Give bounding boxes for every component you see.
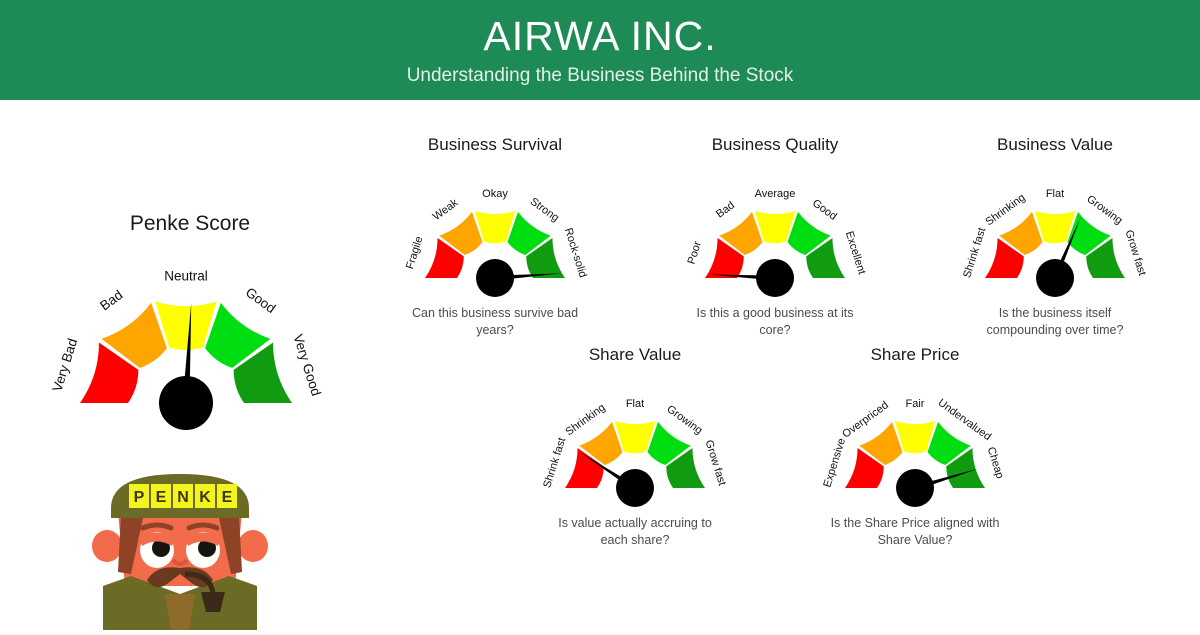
gauge-segment-label: Growing — [664, 403, 704, 437]
gauge-segment-label: Very Bad — [50, 337, 81, 394]
caption-line-1: Is this a good business at its — [658, 305, 892, 322]
gauge-hub — [1036, 259, 1074, 297]
gauge-dial-share-value: Shrink fastShrinkingFlatGrowingGrow fast — [518, 372, 752, 507]
gauge-caption-business-quality: Is this a good business at its core? — [658, 305, 892, 339]
gauge-hub — [476, 259, 514, 297]
gauge-title-penke-score: Penke Score — [30, 212, 350, 236]
caption-line-1: Is value actually accruing to — [518, 515, 752, 532]
gauge-share-value: Share Value Shrink fastShrinkingFlatGrow… — [518, 345, 752, 550]
mascot-illustration: P E N K E — [85, 462, 275, 630]
gauge-segment-label: Expensive — [821, 437, 848, 489]
gauge-dial-share-price: ExpensiveOverpricedFairUndervaluedCheap — [798, 372, 1032, 507]
gauge-penke-score: Penke Score Very BadBadNeutralGoodVery G… — [30, 212, 350, 427]
mascot-left-ear — [92, 530, 122, 562]
svg-text:K: K — [199, 489, 211, 506]
gauge-caption-business-survival: Can this business survive bad years? — [378, 305, 612, 339]
gauge-segment-label: Poor — [686, 240, 704, 266]
gauge-segment-label: Shrinking — [983, 192, 1027, 229]
gauge-segment-label: Bad — [714, 199, 737, 220]
gauge-caption-share-price: Is the Share Price aligned with Share Va… — [798, 515, 1032, 549]
gauge-share-price: Share Price ExpensiveOverpricedFairUnder… — [798, 345, 1032, 550]
gauge-business-survival: Business Survival FragileWeakOkayStrongR… — [378, 135, 612, 335]
gauge-segment-label: Rock-solid — [562, 227, 589, 280]
caption-line-2: years? — [378, 322, 612, 339]
caption-line-1: Is the business itself — [938, 305, 1172, 322]
gauge-segment-label: Shrink fast — [961, 226, 988, 279]
gauge-segment-label: Good — [810, 197, 839, 223]
page-subtitle: Understanding the Business Behind the St… — [0, 59, 1200, 88]
gauge-dial-business-value: Shrink fastShrinkingFlatGrowingGrow fast — [938, 162, 1172, 297]
gauge-segment-label: Growing — [1084, 193, 1124, 227]
caption-line-2: Share Value? — [798, 532, 1032, 549]
gauge-segment-label: Flat — [1046, 188, 1064, 200]
mascot-right-ear — [238, 530, 268, 562]
gauge-segment-label: Grow fast — [1122, 229, 1148, 278]
gauge-hub — [756, 259, 794, 297]
gauge-segment-label: Excellent — [843, 230, 868, 276]
gauge-segment-label: Good — [243, 285, 279, 317]
svg-text:N: N — [177, 489, 189, 506]
caption-line-1: Is the Share Price aligned with — [798, 515, 1032, 532]
caption-line-1: Can this business survive bad — [378, 305, 612, 322]
caption-line-2: each share? — [518, 532, 752, 549]
mascot-left-eyelid — [140, 537, 174, 542]
gauge-segment-label: Fair — [906, 398, 925, 410]
gauge-segment-label: Shrinking — [563, 402, 607, 439]
gauge-segment-label: Very Good — [290, 332, 323, 397]
gauge-segment-label: Okay — [482, 188, 508, 200]
gauge-segment-label: Cheap — [985, 446, 1006, 481]
gauge-segment-label: Grow fast — [702, 439, 728, 488]
page-title: AIRWA INC. — [0, 0, 1200, 59]
gauge-business-quality: Business Quality PoorBadAverageGoodExcel… — [658, 135, 892, 335]
svg-text:E: E — [156, 489, 167, 506]
svg-text:E: E — [222, 489, 233, 506]
gauge-segment-label: Shrink fast — [541, 436, 568, 489]
gauge-caption-business-value: Is the business itself compounding over … — [938, 305, 1172, 339]
mascot-hat-letters: P E N K E — [129, 484, 237, 508]
gauge-dial-business-survival: FragileWeakOkayStrongRock-solid — [378, 162, 612, 297]
mascot-right-eyelid — [186, 537, 220, 542]
gauge-hub — [616, 469, 654, 507]
gauge-dial-penke-score: Very BadBadNeutralGoodVery Good — [30, 249, 350, 429]
gauge-title-business-quality: Business Quality — [658, 135, 892, 155]
penke-mascot: P E N K E — [85, 462, 275, 630]
gauge-segment-label: Neutral — [164, 269, 208, 284]
gauge-hub — [896, 469, 934, 507]
gauge-segment-label: Strong — [528, 196, 561, 225]
gauge-segment-label: Flat — [626, 398, 644, 410]
gauge-hub — [159, 376, 213, 430]
gauge-title-business-survival: Business Survival — [378, 135, 612, 155]
gauge-segment-label: Average — [755, 188, 796, 200]
caption-line-2: compounding over time? — [938, 322, 1172, 339]
caption-line-2: core? — [658, 322, 892, 339]
gauge-business-value: Business Value Shrink fastShrinkingFlatG… — [938, 135, 1172, 335]
page-header: AIRWA INC. Understanding the Business Be… — [0, 0, 1200, 100]
gauge-segment-label: Fragile — [404, 235, 426, 271]
gauge-dial-business-quality: PoorBadAverageGoodExcellent — [658, 162, 892, 297]
svg-text:P: P — [134, 489, 145, 506]
gauge-caption-share-value: Is value actually accruing to each share… — [518, 515, 752, 549]
gauge-title-business-value: Business Value — [938, 135, 1172, 155]
gauge-title-share-value: Share Value — [518, 345, 752, 365]
gauge-title-share-price: Share Price — [798, 345, 1032, 365]
gauge-segment-label: Weak — [431, 197, 461, 223]
gauge-segment-label: Bad — [97, 287, 125, 313]
